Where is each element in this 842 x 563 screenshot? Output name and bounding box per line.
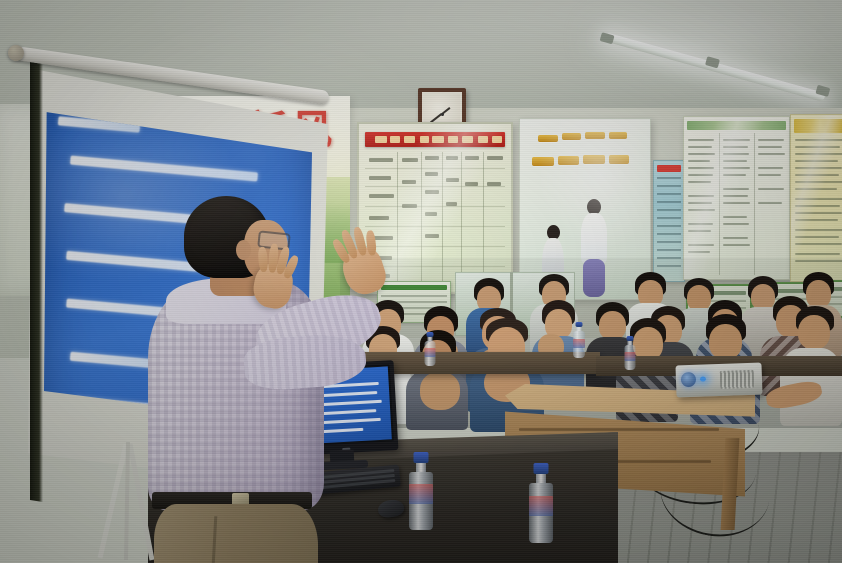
photo-scene: 婚 育 新 风 和 谐 社: [0, 0, 842, 563]
photo-grain: [0, 0, 842, 563]
